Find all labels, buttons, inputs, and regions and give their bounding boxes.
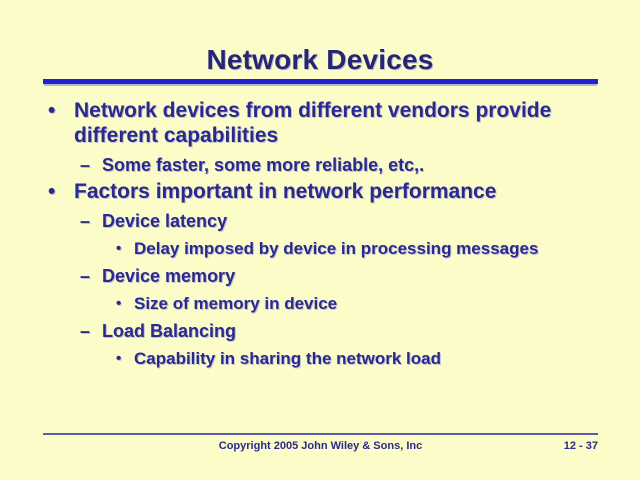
page-title: Network Devices bbox=[0, 44, 640, 76]
bullet-marker-dash: – bbox=[80, 210, 90, 233]
bullet-level2: – Device memory bbox=[80, 265, 640, 288]
bullet-marker-dash: – bbox=[80, 154, 90, 177]
bullet-text: Device latency bbox=[102, 210, 640, 233]
title-divider bbox=[43, 79, 598, 84]
bullet-level3: • Delay imposed by device in processing … bbox=[116, 238, 640, 259]
copyright-text: Copyright 2005 John Wiley & Sons, Inc bbox=[43, 440, 598, 452]
bullet-marker-dot: • bbox=[48, 179, 55, 204]
slide-body: • Network devices from different vendors… bbox=[0, 96, 640, 369]
footer-divider bbox=[43, 433, 598, 435]
bullet-text: Factors important in network performance bbox=[74, 179, 640, 204]
bullet-text: Device memory bbox=[102, 265, 640, 288]
bullet-level2: – Some faster, some more reliable, etc,. bbox=[80, 154, 640, 177]
bullet-text: Size of memory in device bbox=[134, 293, 640, 314]
bullet-marker-dot: • bbox=[116, 293, 121, 314]
bullet-marker-dash: – bbox=[80, 320, 90, 343]
bullet-text: Load Balancing bbox=[102, 320, 640, 343]
bullet-level2: – Device latency bbox=[80, 210, 640, 233]
footer: Copyright 2005 John Wiley & Sons, Inc 12… bbox=[43, 440, 598, 458]
bullet-level3: • Capability in sharing the network load bbox=[116, 348, 640, 369]
bullet-level1: • Factors important in network performan… bbox=[48, 179, 640, 204]
bullet-text: Capability in sharing the network load bbox=[134, 348, 640, 369]
bullet-text: Some faster, some more reliable, etc,. bbox=[102, 154, 640, 177]
page-number: 12 - 37 bbox=[564, 440, 598, 452]
bullet-level1: • Network devices from different vendors… bbox=[48, 98, 640, 148]
bullet-text: Network devices from different vendors p… bbox=[74, 98, 640, 148]
bullet-marker-dash: – bbox=[80, 265, 90, 288]
bullet-text: Delay imposed by device in processing me… bbox=[134, 238, 640, 259]
slide: Network Devices • Network devices from d… bbox=[0, 0, 640, 480]
bullet-marker-dot: • bbox=[48, 98, 55, 123]
bullet-level2: – Load Balancing bbox=[80, 320, 640, 343]
bullet-level3: • Size of memory in device bbox=[116, 293, 640, 314]
bullet-marker-dot: • bbox=[116, 238, 121, 259]
bullet-marker-dot: • bbox=[116, 348, 121, 369]
